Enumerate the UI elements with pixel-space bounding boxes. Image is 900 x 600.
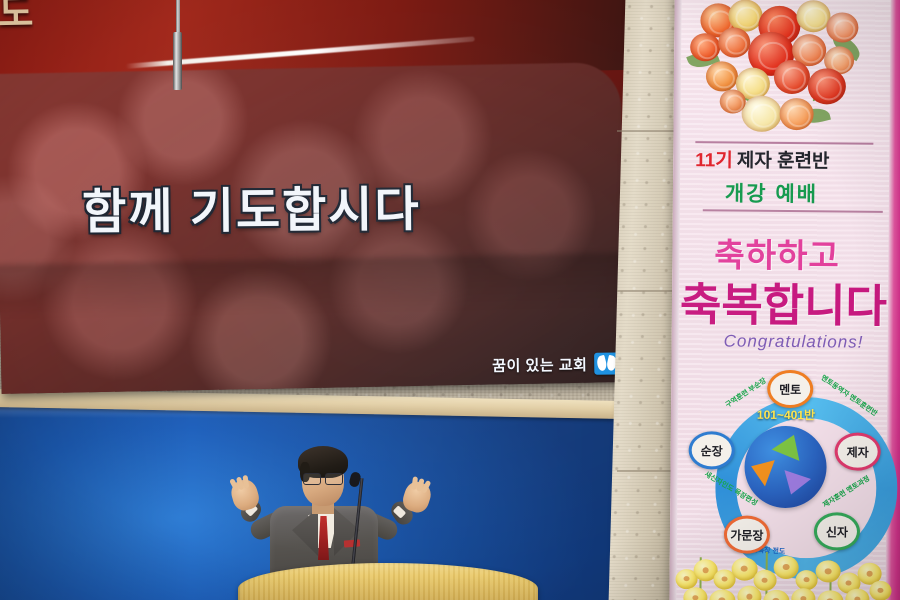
discipleship-cycle-diagram: 101~401반 구역훈련 부순장 멘토동역자 멘토훈련반 제자훈련 멘토과정 … <box>694 375 878 559</box>
photo-scene: 도 함께 기도합시다 꿈이 있는 교회 <box>0 0 900 600</box>
banner-divider <box>703 209 883 212</box>
cycle-node-jeja: 제자 <box>835 432 881 470</box>
orange-arrow-icon <box>746 453 775 486</box>
cycle-center-label: 101~401반 <box>695 405 877 424</box>
banner-class-number: 11기 <box>695 145 733 172</box>
green-arrow-icon <box>772 429 808 461</box>
speaker-figure <box>248 440 478 580</box>
banner-headline-green: 개강 예배 <box>725 177 818 208</box>
church-logo: 꿈이 있는 교회 <box>492 353 619 377</box>
cycle-core <box>744 426 827 509</box>
ceiling-rod <box>176 0 180 34</box>
eyeglasses-icon <box>303 473 343 483</box>
purple-arrow-icon <box>778 470 811 499</box>
projection-screen: 도 함께 기도합시다 꿈이 있는 교회 <box>0 0 648 394</box>
cycle-node-sunjang: 순장 <box>689 431 735 469</box>
banner-big-line-2: 축복합니다 <box>680 268 888 335</box>
yellow-orchid-flowers <box>669 539 900 600</box>
column-seam <box>617 290 679 292</box>
church-logo-text: 꿈이 있는 교회 <box>492 353 587 375</box>
banner-headline-small: 11기 제자 훈련반 <box>695 145 829 173</box>
banner-congratulations: Congratulations! <box>724 331 864 352</box>
banner-divider <box>695 141 873 144</box>
cycle-node-mento: 멘토 <box>767 370 813 408</box>
hanging-microphone-icon <box>173 32 182 90</box>
rose-cluster-image <box>679 0 888 141</box>
pocket-square <box>344 539 360 547</box>
slide-corner-partial-text: 도 <box>0 0 34 37</box>
banner-class-name: 제자 훈련반 <box>737 146 830 174</box>
event-banner: 11기 제자 훈련반 개강 예배 축하하고 축복합니다 Congratulati… <box>669 0 900 600</box>
slide-title-text: 함께 기도합시다 <box>82 170 421 243</box>
column-seam <box>617 130 679 132</box>
